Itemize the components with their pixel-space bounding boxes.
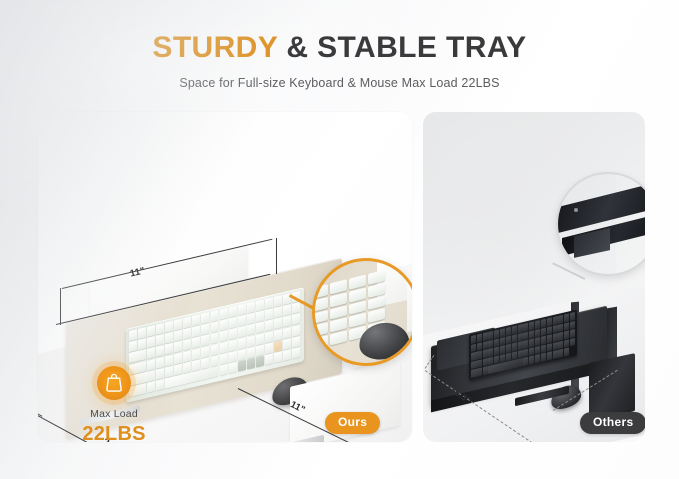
- title-rest: & STABLE TRAY: [278, 31, 527, 64]
- panel-others: 25.3" 9.3" Others: [423, 112, 645, 442]
- inset-screw: [574, 208, 578, 212]
- panel-ours: 11" 24.6" 11": [38, 112, 412, 442]
- max-load-value: 22LBS: [59, 423, 169, 442]
- others-product-illustration: 25.3" 9.3": [423, 112, 645, 442]
- badge-others: Others: [580, 412, 645, 434]
- max-load-badge: Max Load 22LBS: [59, 366, 169, 442]
- weight-icon: [97, 366, 131, 400]
- weight-icon-glyph: [105, 373, 123, 392]
- page-title: STURDY & STABLE TRAY: [0, 33, 679, 63]
- badge-ours: Ours: [325, 412, 380, 434]
- promo-image: STURDY & STABLE TRAY Space for Full-size…: [0, 0, 679, 479]
- inset-tab-b: [407, 274, 412, 332]
- inset-ours-closeup: [312, 258, 412, 366]
- max-load-label: Max Load: [59, 408, 169, 420]
- dim-cap-left: [60, 288, 61, 325]
- dim-cap-right: [276, 238, 277, 274]
- header: STURDY & STABLE TRAY Space for Full-size…: [0, 33, 679, 90]
- title-accent-word: STURDY: [152, 31, 277, 64]
- inset-others-closeup: [556, 172, 645, 276]
- page-subtitle: Space for Full-size Keyboard & Mouse Max…: [0, 76, 679, 90]
